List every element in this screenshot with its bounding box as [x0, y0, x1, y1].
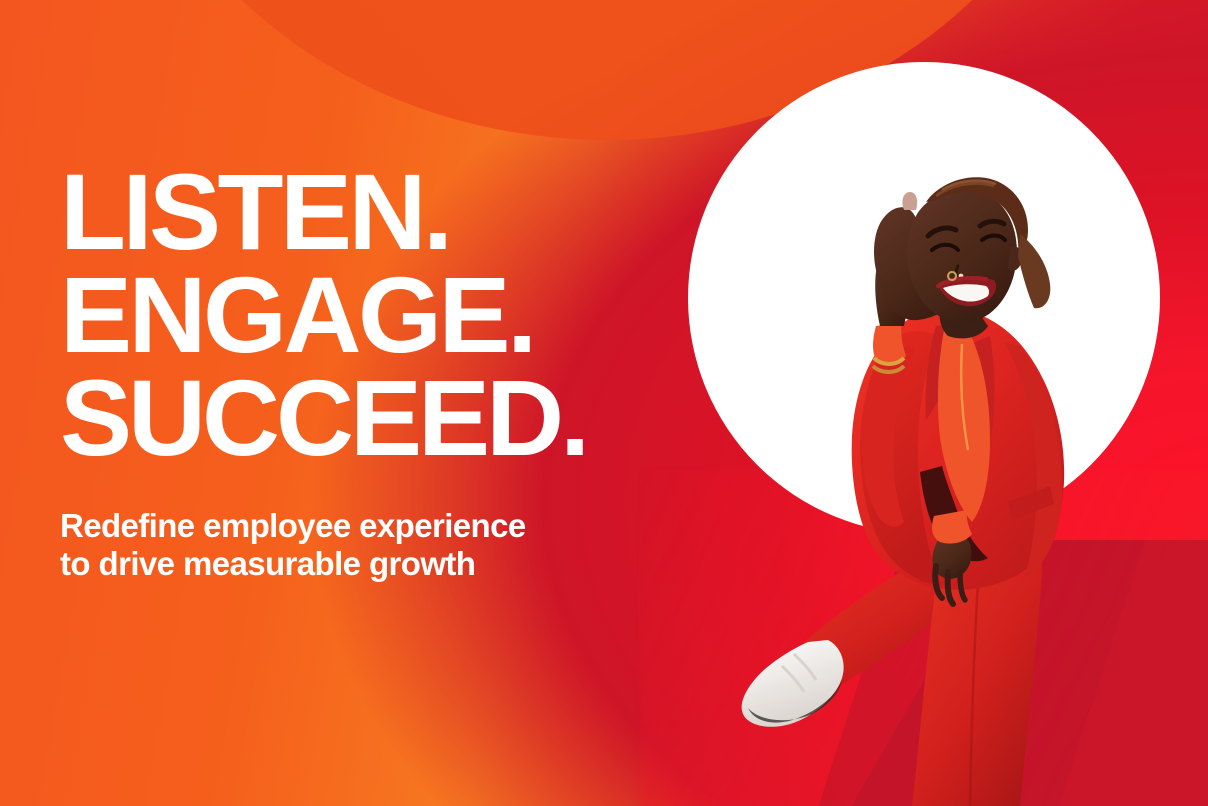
subheadline: Redefine employee experience to drive me…: [60, 507, 586, 583]
headline-line-2: ENGAGE.: [60, 263, 586, 366]
page-title: LISTEN. ENGAGE. SUCCEED.: [60, 160, 586, 469]
subheadline-line-2: to drive measurable growth: [60, 545, 586, 583]
subheadline-line-1: Redefine employee experience: [60, 507, 586, 545]
headline-line-1: LISTEN.: [60, 160, 586, 263]
copy-block: LISTEN. ENGAGE. SUCCEED. Redefine employ…: [60, 160, 586, 583]
white-circle-backdrop: [688, 62, 1160, 534]
headline-line-3: SUCCEED.: [60, 366, 586, 469]
hero-banner: LISTEN. ENGAGE. SUCCEED. Redefine employ…: [0, 0, 1208, 806]
